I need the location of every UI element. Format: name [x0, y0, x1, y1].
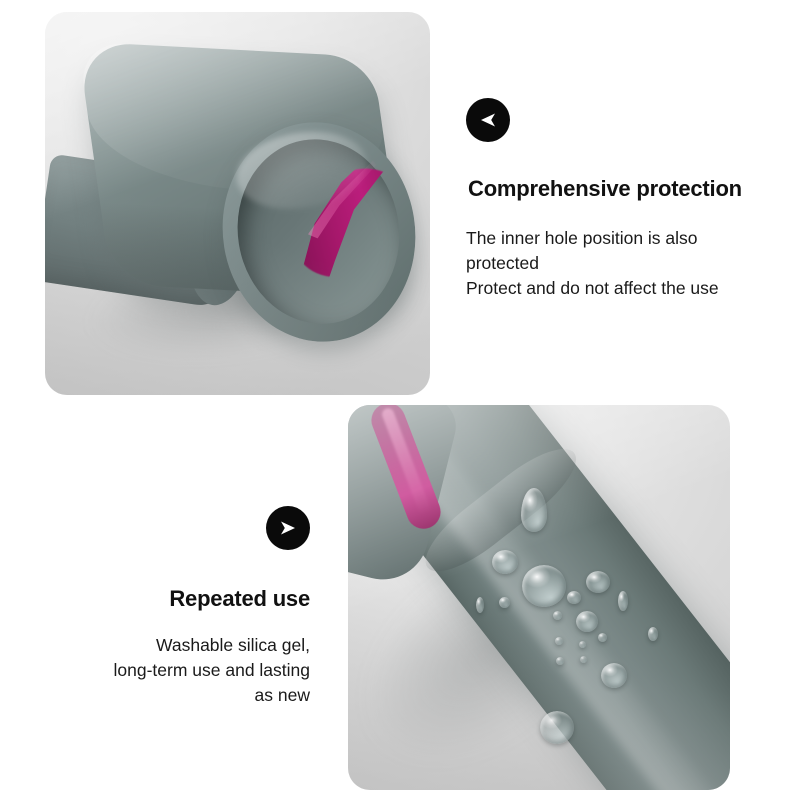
water-droplet: [567, 591, 581, 604]
handle-illustration: [348, 405, 730, 790]
nozzle-opening: [207, 108, 430, 355]
water-droplet: [476, 597, 484, 613]
feature-image-repeated-use: [348, 405, 730, 790]
nozzle-cover-illustration: [45, 12, 430, 395]
water-droplet: [598, 633, 607, 642]
feature-body-repeated-use: Washable silica gel, long-term use and l…: [40, 633, 310, 708]
feature-body-line: The inner hole position is also: [466, 226, 786, 251]
feature-body-line: Washable silica gel,: [40, 633, 310, 658]
water-droplet: [522, 565, 566, 607]
water-droplet: [576, 611, 598, 632]
feature-image-comprehensive-protection: [45, 12, 430, 395]
feature-body-line: Protect and do not affect the use: [466, 276, 786, 301]
feature-title-comprehensive-protection: Comprehensive protection: [468, 176, 742, 202]
water-droplet: [648, 627, 658, 641]
water-droplet: [499, 597, 510, 608]
water-droplet: [553, 611, 562, 620]
feature-body-line: protected: [466, 251, 786, 276]
arrow-right-circle-icon: [266, 506, 310, 550]
feature-body-line: long-term use and lasting: [40, 658, 310, 683]
water-droplet: [580, 656, 587, 663]
water-droplet: [556, 657, 564, 665]
water-droplet: [586, 571, 610, 593]
water-droplet: [579, 641, 586, 648]
water-droplet: [555, 637, 563, 645]
water-droplet: [492, 550, 518, 574]
water-droplet: [618, 591, 628, 611]
water-droplet: [540, 711, 574, 744]
feature-title-repeated-use: Repeated use: [155, 586, 310, 612]
arrow-left-circle-icon: [466, 98, 510, 142]
feature-body-comprehensive-protection: The inner hole position is also protecte…: [466, 226, 786, 301]
product-feature-page: Comprehensive protection The inner hole …: [0, 0, 800, 800]
feature-body-line: as new: [40, 683, 310, 708]
water-droplet: [601, 663, 627, 688]
